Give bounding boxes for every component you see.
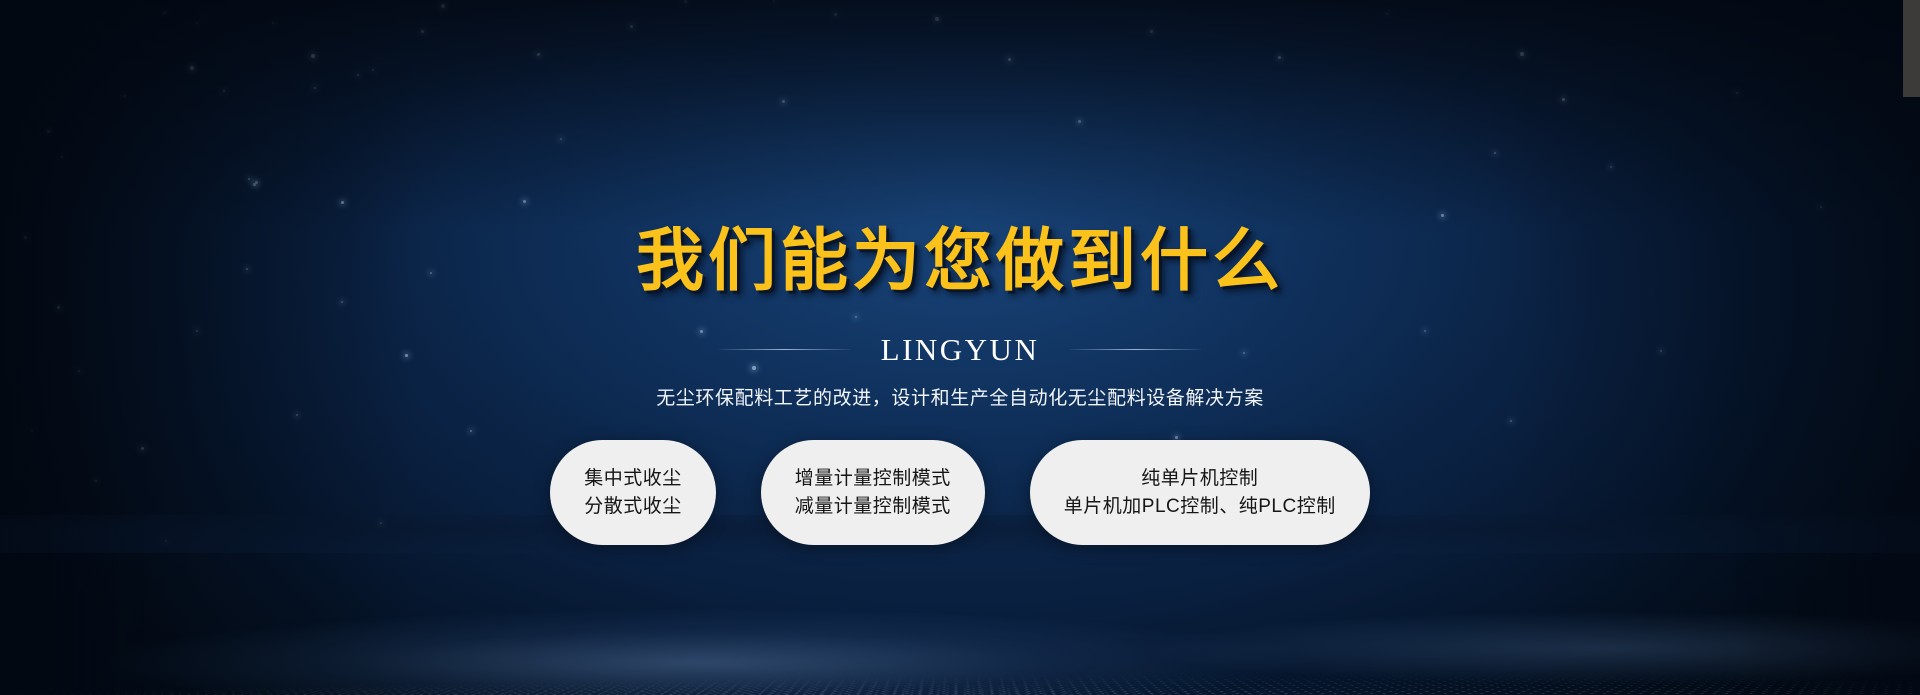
scrollbar-thumb[interactable]: [1903, 0, 1920, 97]
feature-card-list: 集中式收尘 分散式收尘 增量计量控制模式 减量计量控制模式 纯单片机控制 单片机…: [0, 440, 1920, 545]
page-title: 我们能为您做到什么: [0, 228, 1920, 296]
card-line: 增量计量控制模式: [795, 469, 951, 488]
card-line: 集中式收尘: [584, 469, 682, 488]
divider-line-right: [1069, 349, 1201, 350]
divider-line-left: [719, 349, 851, 350]
banner-content: 我们能为您做到什么 LINGYUN 无尘环保配料工艺的改进，设计和生产全自动化无…: [0, 0, 1920, 695]
card-line: 单片机加PLC控制、纯PLC控制: [1064, 497, 1336, 516]
brand-subtitle-row: LINGYUN: [0, 334, 1920, 365]
hero-banner: 我们能为您做到什么 LINGYUN 无尘环保配料工艺的改进，设计和生产全自动化无…: [0, 0, 1920, 695]
card-line: 分散式收尘: [584, 497, 682, 516]
feature-card-dust-collection[interactable]: 集中式收尘 分散式收尘: [550, 440, 716, 545]
feature-card-control-system[interactable]: 纯单片机控制 单片机加PLC控制、纯PLC控制: [1030, 440, 1370, 545]
feature-card-metering-mode[interactable]: 增量计量控制模式 减量计量控制模式: [761, 440, 985, 545]
banner-description: 无尘环保配料工艺的改进，设计和生产全自动化无尘配料设备解决方案: [0, 383, 1920, 410]
page-scrollbar[interactable]: [1903, 0, 1920, 695]
card-line: 减量计量控制模式: [795, 497, 951, 516]
brand-name: LINGYUN: [881, 334, 1040, 365]
card-line: 纯单片机控制: [1141, 469, 1258, 488]
